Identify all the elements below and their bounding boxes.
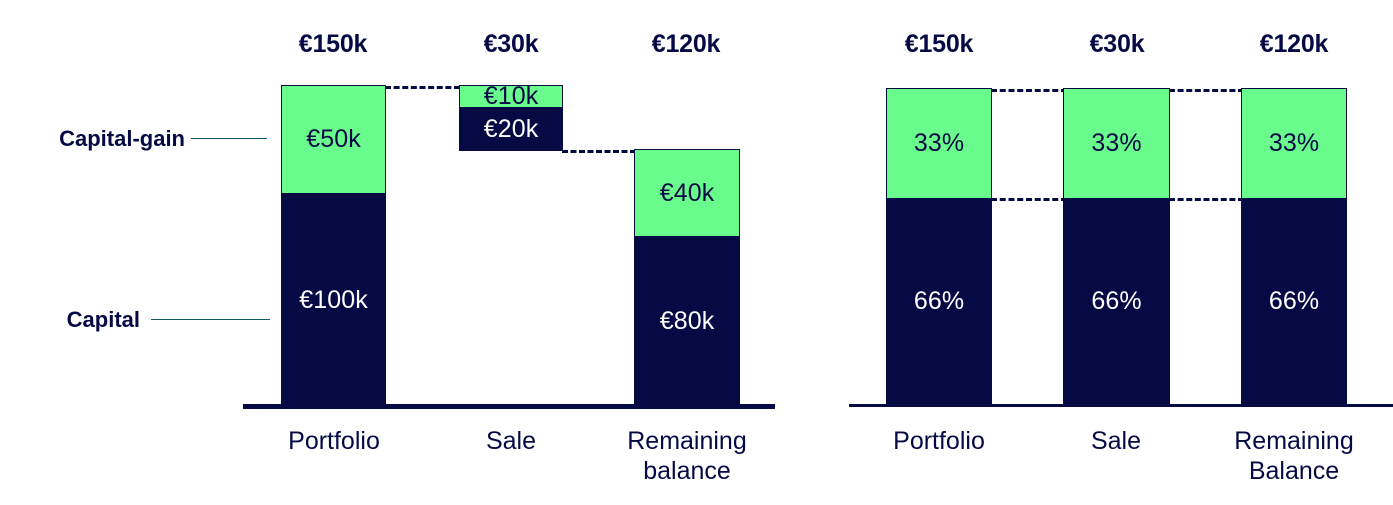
right-connector-mid-sale-remaining bbox=[1169, 198, 1244, 201]
right-bar-sale-gain: 33% bbox=[1063, 88, 1170, 199]
right-total-sale: €30k bbox=[1038, 32, 1196, 57]
right-chart-axis-line bbox=[849, 404, 1393, 407]
right-bar-portfolio-capital-label: 66% bbox=[914, 289, 964, 314]
right-bar-remaining-capital-label: 66% bbox=[1269, 289, 1319, 314]
right-bar-sale-gain-label: 33% bbox=[1091, 131, 1141, 156]
right-category-remaining: Remaining Balance bbox=[1213, 427, 1375, 486]
right-bar-remaining-gain: 33% bbox=[1241, 88, 1347, 199]
right-bar-remaining-gain-label: 33% bbox=[1269, 131, 1319, 156]
right-bar-portfolio-capital: 66% bbox=[886, 198, 992, 404]
right-total-remaining: €120k bbox=[1215, 32, 1373, 57]
right-chart-percentages: €150k €30k €120k 33% 66% 33% 66% 33% 66% bbox=[0, 0, 1393, 505]
right-bar-portfolio-gain-label: 33% bbox=[914, 131, 964, 156]
right-bar-portfolio-gain: 33% bbox=[886, 88, 992, 199]
right-connector-mid-portfolio-sale bbox=[991, 198, 1067, 201]
right-category-sale: Sale bbox=[1036, 427, 1196, 457]
right-bar-remaining-capital: 66% bbox=[1241, 198, 1347, 404]
right-connector-top-sale-remaining bbox=[1169, 89, 1244, 92]
right-category-portfolio: Portfolio bbox=[858, 427, 1020, 457]
stacked-bar-chart-figure: €150k €30k €120k €50k €100k €10k €20k €4… bbox=[0, 0, 1393, 505]
right-total-portfolio: €150k bbox=[859, 32, 1019, 57]
right-bar-sale-capital-label: 66% bbox=[1091, 289, 1141, 314]
right-connector-top-portfolio-sale bbox=[991, 89, 1067, 92]
right-bar-sale-capital: 66% bbox=[1063, 198, 1170, 404]
